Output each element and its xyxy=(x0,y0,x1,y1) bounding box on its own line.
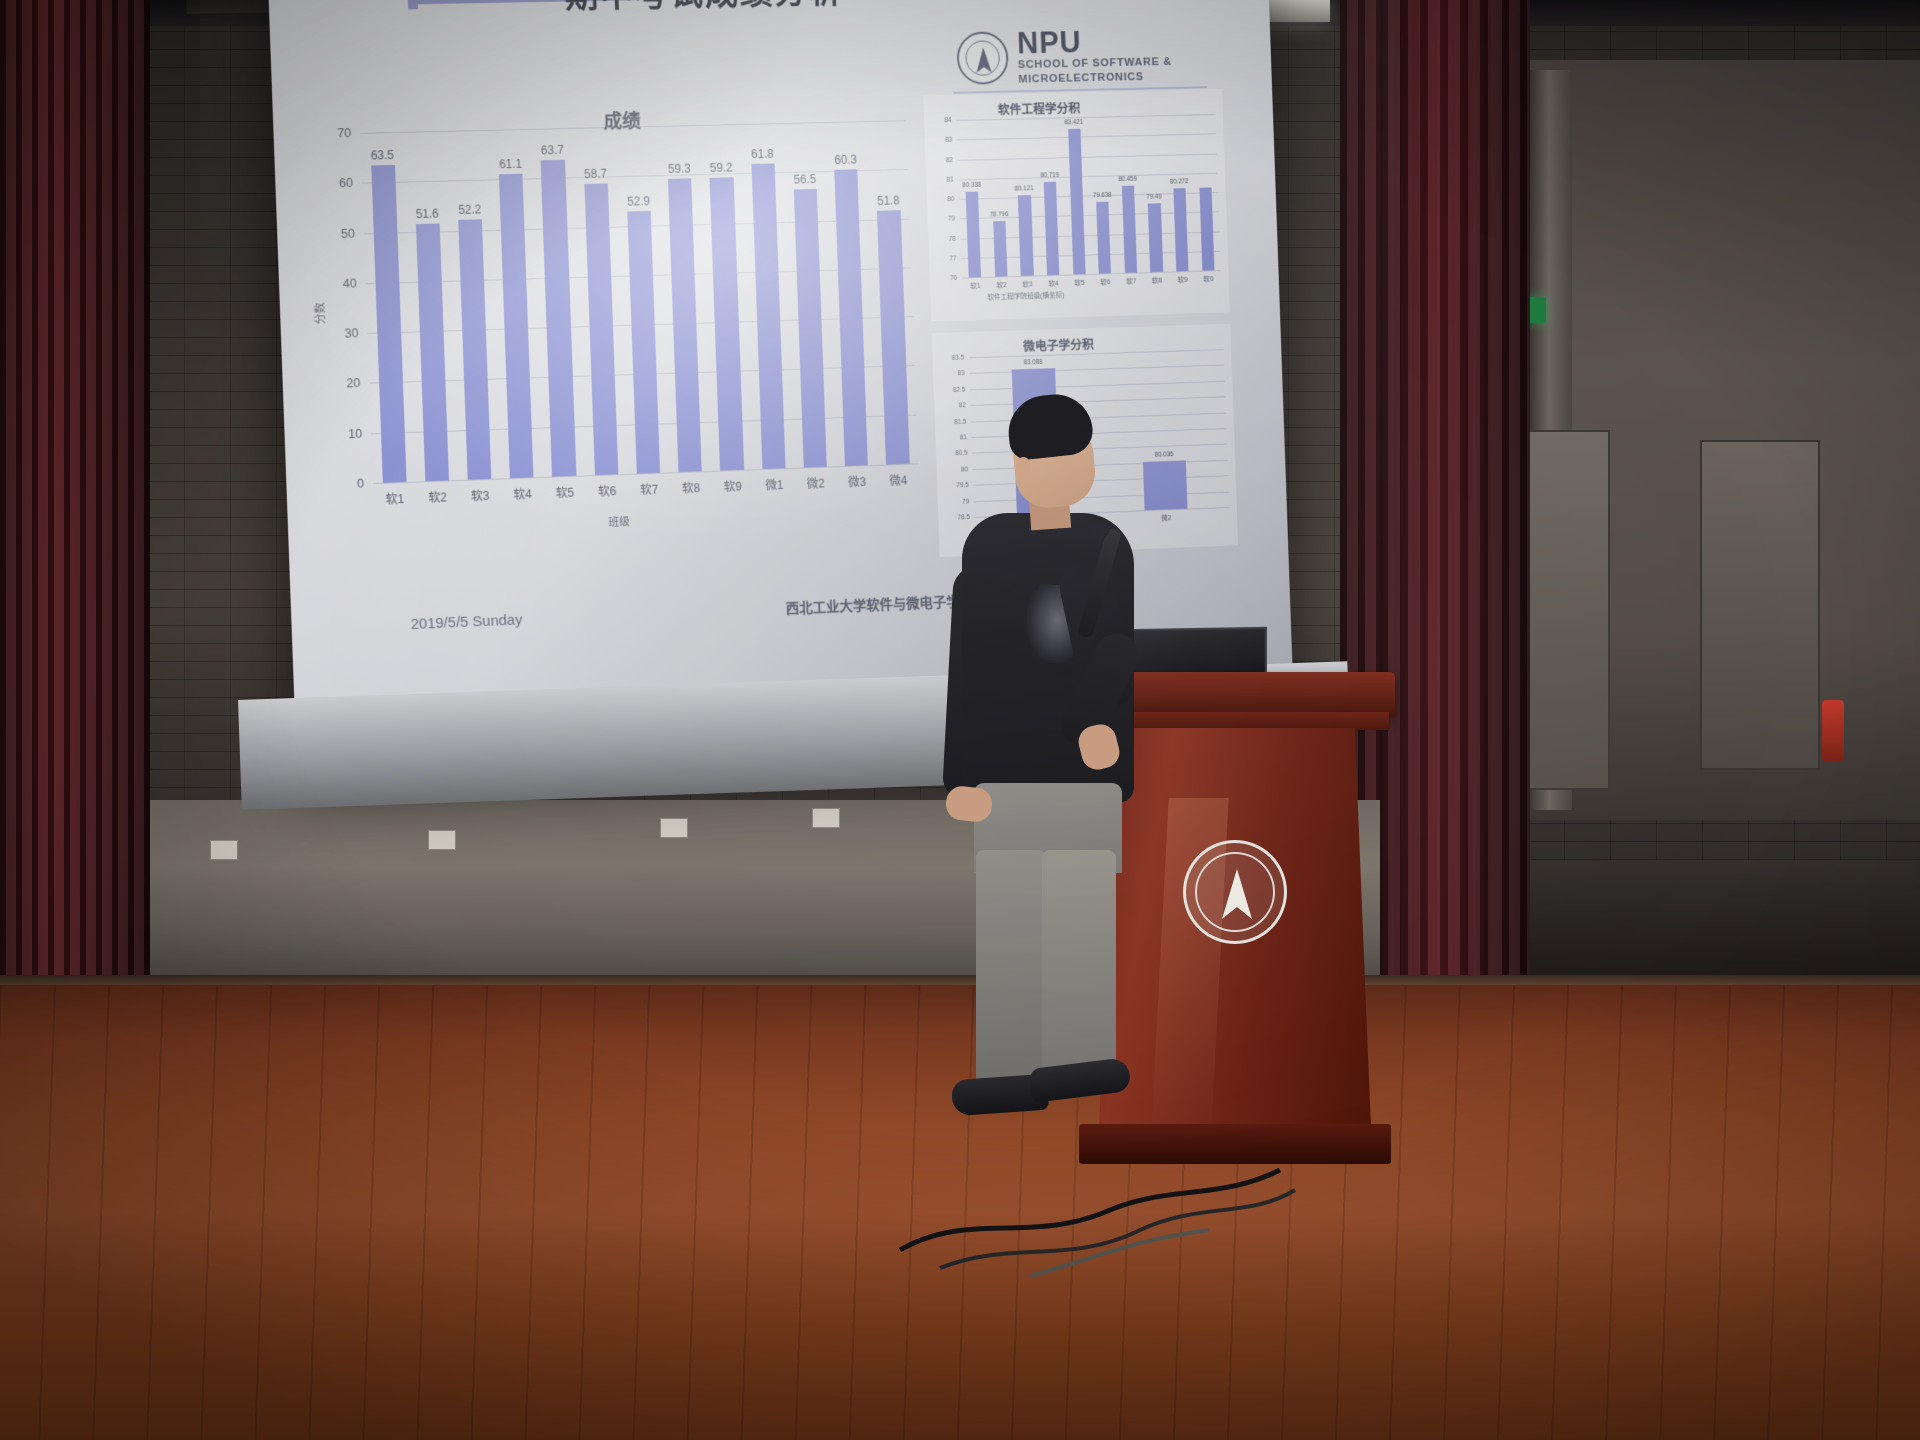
y-axis-tick: 0 xyxy=(357,477,364,491)
bar-value-label: 58.7 xyxy=(584,166,607,180)
npu-logo: NPU SCHOOL OF SOFTWARE & MICROELECTRONIC… xyxy=(956,19,1207,94)
x-axis-tick: 软5 xyxy=(555,484,574,501)
bar-value-label: 83.421 xyxy=(1064,119,1083,126)
bar xyxy=(416,223,449,481)
x-axis-tick: 软5 xyxy=(1074,278,1085,288)
x-axis-tick: 软8 xyxy=(682,479,701,496)
presenter-left-hand xyxy=(944,785,993,824)
bar xyxy=(834,169,868,466)
curtain-right-fold xyxy=(1380,0,1500,990)
bar-value-label: 56.5 xyxy=(793,172,816,186)
bar xyxy=(710,178,744,471)
main-chart-ylabel: 分数 xyxy=(312,302,329,324)
x-axis-tick: 软9 xyxy=(1177,275,1188,285)
bar-value-label: 63.7 xyxy=(541,143,564,157)
x-axis-tick: 软1 xyxy=(385,490,404,508)
x-axis-tick: 软7 xyxy=(1126,276,1137,286)
bar-value-label: 59.3 xyxy=(668,161,691,175)
x-axis-tick: 软4 xyxy=(1048,279,1059,289)
slide-title: 期中考试成绩分析 xyxy=(564,0,844,17)
presenter-right-leg xyxy=(1042,850,1116,1090)
presenter-ear xyxy=(1016,457,1031,477)
x-axis-tick: 软0 xyxy=(1203,274,1213,284)
bar-series: 63.5软151.6软252.2软361.1软463.7软558.7软652.9… xyxy=(360,120,918,483)
npu-subtitle-line2: MICROELECTRONICS xyxy=(1018,69,1172,86)
side-door-right xyxy=(1700,440,1820,770)
y-axis-tick: 40 xyxy=(343,276,357,290)
bar xyxy=(794,189,827,468)
bar-value-label: 60.3 xyxy=(834,152,857,166)
x-axis-tick: 软7 xyxy=(640,481,659,498)
gpa-chart-title: 软件工程学分积 xyxy=(997,98,1080,118)
bar-value-label: 80.272 xyxy=(1170,178,1189,185)
bar xyxy=(668,178,702,472)
bar-value-label: 78.796 xyxy=(990,212,1009,219)
bar xyxy=(751,164,785,469)
bar-value-label: 79.49 xyxy=(1146,194,1161,201)
x-axis-tick: 软3 xyxy=(1022,280,1033,290)
y-axis-tick: 82.5 xyxy=(953,386,965,393)
bar xyxy=(371,165,407,483)
bar-value-label: 61.8 xyxy=(751,147,774,161)
y-axis-tick: 83 xyxy=(945,136,953,143)
x-axis-tick: 微2 xyxy=(1161,513,1172,523)
npu-logo-text: NPU SCHOOL OF SOFTWARE & MICROELECTRONIC… xyxy=(1017,25,1173,86)
x-axis-tick: 软3 xyxy=(471,487,490,505)
presenter-hair xyxy=(1005,391,1095,461)
bar-value-label: 80.338 xyxy=(962,182,981,189)
presenter xyxy=(930,395,1150,1125)
bar xyxy=(499,173,534,478)
bar-value-label: 52.2 xyxy=(458,202,481,216)
x-axis-tick: 微1 xyxy=(765,476,784,493)
y-axis-tick: 60 xyxy=(339,176,353,190)
bar xyxy=(966,192,982,278)
bar-value-label: 80.719 xyxy=(1040,172,1059,179)
bar-value-label: 80.459 xyxy=(1118,176,1137,183)
y-axis-tick: 84 xyxy=(944,117,952,124)
bar-value-label: 83.088 xyxy=(1024,358,1043,365)
y-axis-tick: 70 xyxy=(337,126,351,140)
bar xyxy=(1096,202,1111,274)
x-axis-tick: 软6 xyxy=(1100,277,1111,287)
gpa-chart-plot: 76777879808182838480.338软178.796软280.121… xyxy=(956,114,1221,278)
x-axis-tick: 微4 xyxy=(889,472,907,489)
x-axis-tick: 软6 xyxy=(598,482,617,499)
x-axis-tick: 软2 xyxy=(428,488,447,506)
bar xyxy=(1068,129,1086,275)
micro-chart-title: 微电子学分积 xyxy=(1023,334,1094,355)
chart-scores-by-class: 成绩 分数 班级 01020304050607063.5软151.6软252.2… xyxy=(308,112,926,545)
bar-value-label: 63.5 xyxy=(371,148,395,162)
university-seal-icon xyxy=(1183,840,1287,944)
bar xyxy=(1044,182,1060,275)
wall-socket-1 xyxy=(210,840,238,860)
presenter-left-leg xyxy=(976,850,1046,1090)
y-axis-tick: 79 xyxy=(948,215,956,222)
x-axis-tick: 软4 xyxy=(513,485,532,502)
y-axis-tick: 83 xyxy=(958,370,965,377)
bar xyxy=(1122,185,1137,273)
bar xyxy=(1018,195,1033,276)
bar-item: 软0 xyxy=(1190,114,1221,271)
bar xyxy=(458,219,491,480)
x-axis-tick: 软2 xyxy=(996,280,1007,290)
wall-socket-2 xyxy=(428,830,456,850)
bar xyxy=(877,210,909,465)
bar-value-label: 61.1 xyxy=(499,157,522,171)
y-axis-tick: 20 xyxy=(346,376,360,390)
y-axis-tick: 10 xyxy=(348,426,362,440)
x-axis-tick: 软9 xyxy=(723,478,742,495)
y-axis-tick: 80 xyxy=(947,196,955,203)
photo-scene: 期中考试成绩分析 NPU SCHOOL OF SOFTWARE & MICROE… xyxy=(0,0,1920,1440)
bar xyxy=(1148,204,1163,273)
x-axis-tick: 微3 xyxy=(848,473,866,490)
wall-socket-4 xyxy=(812,808,840,828)
y-axis-tick: 81 xyxy=(946,176,954,183)
y-axis-tick: 50 xyxy=(341,226,355,240)
y-axis-tick: 76 xyxy=(950,274,958,281)
bar-value-label: 51.6 xyxy=(415,206,439,221)
main-chart-xlabel: 班级 xyxy=(608,513,630,530)
chart-software-engineering-gpa: 软件工程学分积 76777879808182838480.338软178.796… xyxy=(923,89,1230,322)
y-axis-tick: 83.5 xyxy=(952,354,964,361)
npu-abbr: NPU xyxy=(1017,25,1172,58)
bar-value-label: 52.9 xyxy=(627,194,650,208)
bar-value-label: 79.638 xyxy=(1093,192,1112,199)
bar-value-label: 51.8 xyxy=(877,193,900,207)
y-axis-tick: 82 xyxy=(946,156,954,163)
bar-value-label: 80.121 xyxy=(1015,185,1034,192)
npu-seal-icon xyxy=(956,31,1009,85)
y-axis-tick: 78 xyxy=(948,235,956,242)
main-chart-plot: 01020304050607063.5软151.6软252.2软361.1软46… xyxy=(360,120,918,483)
bar xyxy=(1173,188,1188,272)
wall-socket-3 xyxy=(660,818,688,838)
bar xyxy=(1199,187,1214,271)
y-axis-tick: 30 xyxy=(344,326,358,340)
microphone-head xyxy=(1088,517,1110,539)
x-axis-tick: 软8 xyxy=(1152,276,1163,286)
curtain-left xyxy=(0,0,150,1020)
fire-extinguisher xyxy=(1822,700,1844,762)
bar-value-label: 80.036 xyxy=(1155,451,1174,458)
bar xyxy=(993,221,1007,276)
bar-value-label: 59.2 xyxy=(710,161,733,175)
gpa-chart-xlabel: 软件工程学院班级(横坐标) xyxy=(987,290,1064,302)
x-axis-tick: 微2 xyxy=(807,475,826,492)
x-axis-tick: 软1 xyxy=(970,281,981,291)
bar xyxy=(541,159,576,476)
bar xyxy=(627,211,660,474)
bar xyxy=(584,183,618,475)
y-axis-tick: 77 xyxy=(949,255,957,262)
bar-series: 80.338软178.796软280.121软380.719软483.421软5… xyxy=(956,114,1221,278)
slide-date: 2019/5/5 Sunday xyxy=(410,611,522,632)
